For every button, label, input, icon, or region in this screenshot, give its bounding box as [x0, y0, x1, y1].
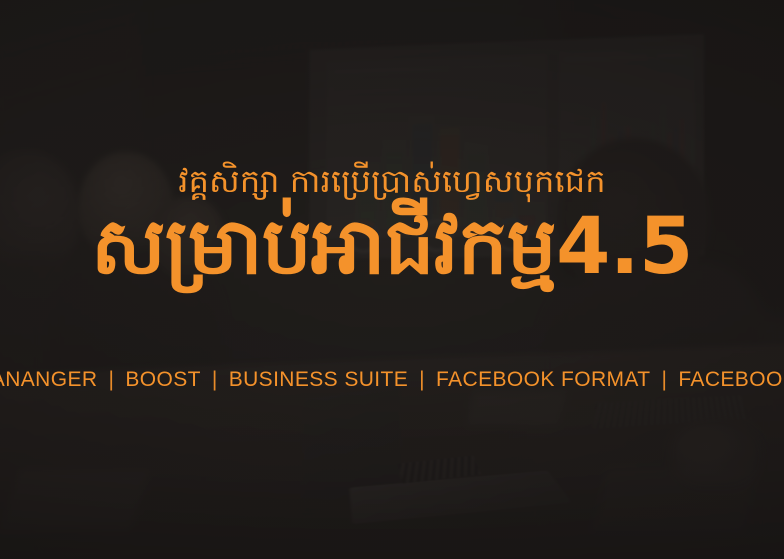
topic-facebook-format: FACEBOOK FORMAT [434, 368, 652, 392]
topic-separator: | [99, 368, 123, 392]
topic-list: ADS MANANGER | BOOST | BUSINESS SUITE | … [0, 368, 784, 392]
promo-banner: វគ្គសិក្សា ការប្រើប្រាស់ហ្វេសបុកជេក សម្រ… [0, 0, 784, 559]
banner-content: វគ្គសិក្សា ការប្រើប្រាស់ហ្វេសបុកជេក សម្រ… [0, 0, 784, 559]
topic-boost: BOOST [123, 368, 203, 392]
course-subtitle: វគ្គសិក្សា ការប្រើប្រាស់ហ្វេសបុកជេក [178, 163, 605, 201]
course-headline: សម្រាប់អាជីវកម្ម4.5 [91, 205, 693, 289]
topic-facebook-page: FACEBOOK PAGE [676, 368, 784, 392]
topic-separator: | [203, 368, 227, 392]
topic-separator: | [653, 368, 677, 392]
topic-separator: | [410, 368, 434, 392]
topic-business-suite: BUSINESS SUITE [227, 368, 410, 392]
topic-ads-mananger: ADS MANANGER [0, 368, 99, 392]
